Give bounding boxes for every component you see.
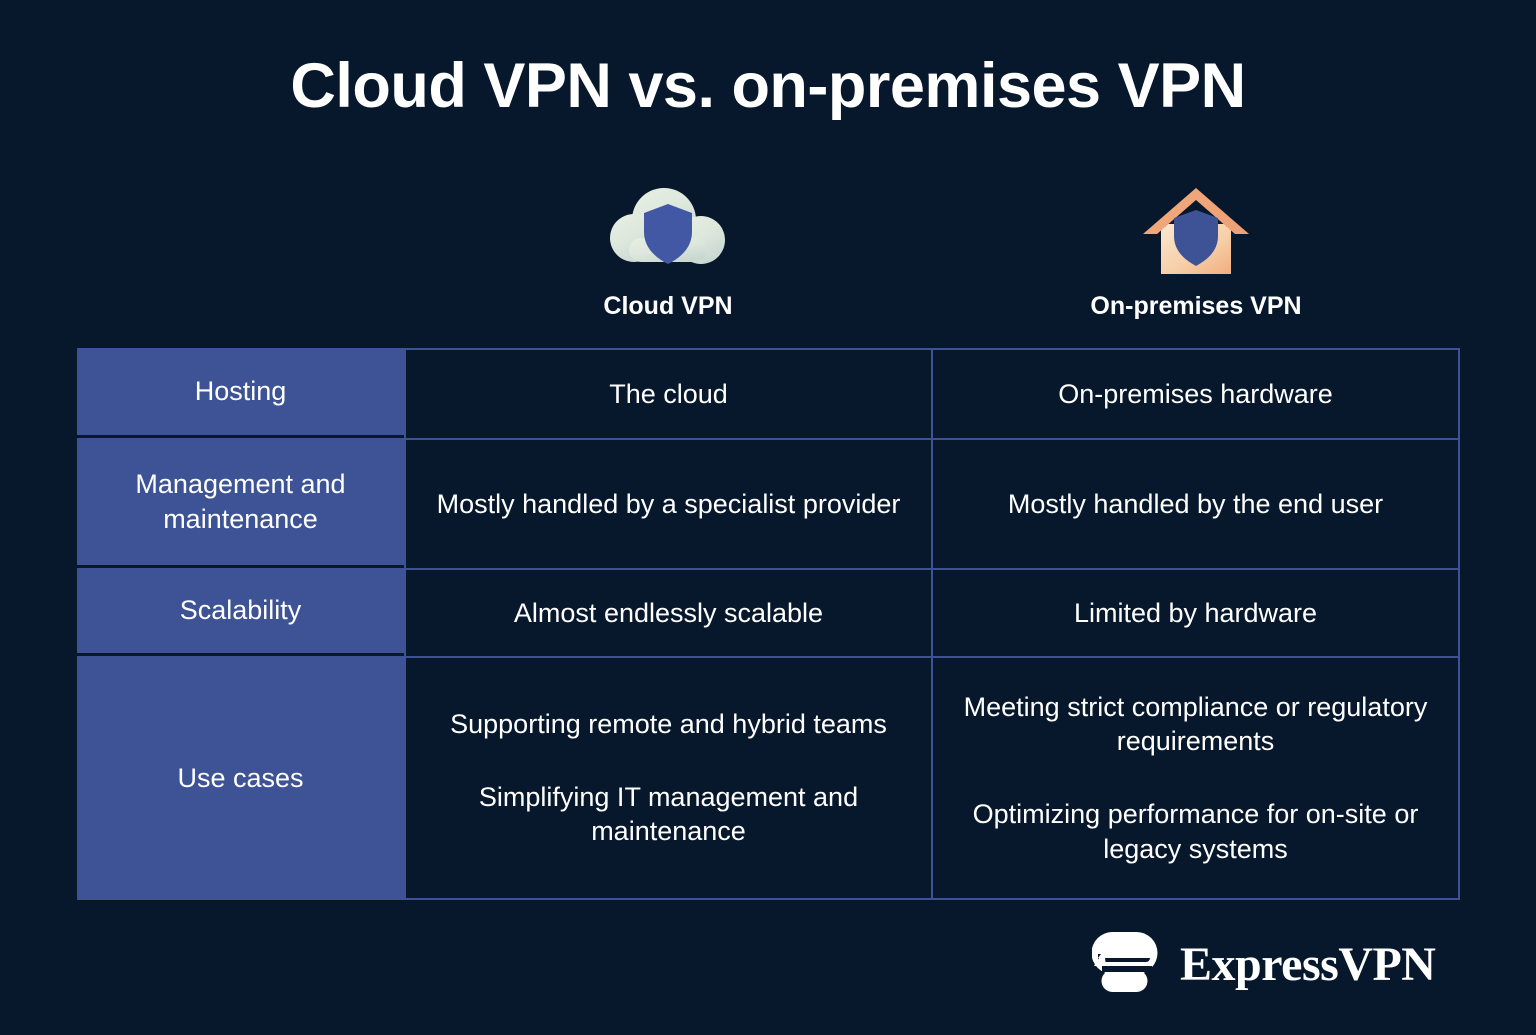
cell-cloud: Almost endlessly scalable [404,568,931,656]
table-row: Scalability Almost endlessly scalable Li… [77,568,1460,656]
column-headers: Cloud VPN [404,178,1460,321]
table-row: Use cases Supporting remote and hybrid t… [77,656,1460,900]
cell-onprem: Limited by hardware [931,568,1460,656]
column-header-label-cloud: Cloud VPN [603,292,732,321]
cell-paragraph: Simplifying IT management and maintenanc… [418,780,919,849]
column-header-cloud: Cloud VPN [404,178,932,321]
cell-paragraph: Limited by hardware [1074,596,1317,631]
column-header-label-onprem: On-premises VPN [1090,292,1301,321]
infographic-page: Cloud VPN vs. on-premises VPN [0,0,1536,1035]
cell-cloud: The cloud [404,348,931,438]
row-label-text: Hosting [195,374,287,409]
row-label: Use cases [77,656,404,900]
row-label-text: Use cases [177,761,303,796]
expressvpn-logo: ExpressVPN [1092,930,1435,999]
cell-onprem: Mostly handled by the end user [931,438,1460,568]
table-row: Hosting The cloud On-premises hardware [77,348,1460,438]
column-header-onprem: On-premises VPN [932,178,1460,321]
cloud-shield-icon [609,178,727,278]
cell-onprem: Meeting strict compliance or regulatory … [931,656,1460,900]
comparison-table: Hosting The cloud On-premises hardware M… [77,348,1460,900]
cell-paragraph: The cloud [609,377,728,412]
cell-paragraph: Mostly handled by a specialist provider [437,487,901,522]
expressvpn-e-icon [1092,930,1160,999]
cell-paragraph: Meeting strict compliance or regulatory … [945,690,1446,759]
cell-paragraph: Almost endlessly scalable [514,596,823,631]
cell-onprem: On-premises hardware [931,348,1460,438]
row-label: Management and maintenance [77,438,404,568]
cell-cloud: Supporting remote and hybrid teams Simpl… [404,656,931,900]
expressvpn-wordmark: ExpressVPN [1180,937,1435,992]
page-title: Cloud VPN vs. on-premises VPN [0,52,1536,121]
cell-paragraph: On-premises hardware [1058,377,1333,412]
cell-paragraph: Supporting remote and hybrid teams [418,707,919,742]
cell-cloud: Mostly handled by a specialist provider [404,438,931,568]
row-label: Hosting [77,348,404,438]
house-shield-icon [1137,178,1255,278]
cell-paragraph: Optimizing performance for on-site or le… [945,797,1446,866]
row-label-text: Scalability [180,593,302,628]
row-label-text: Management and maintenance [89,467,392,536]
cell-paragraph: Mostly handled by the end user [1008,487,1383,522]
table-row: Management and maintenance Mostly handle… [77,438,1460,568]
row-label: Scalability [77,568,404,656]
